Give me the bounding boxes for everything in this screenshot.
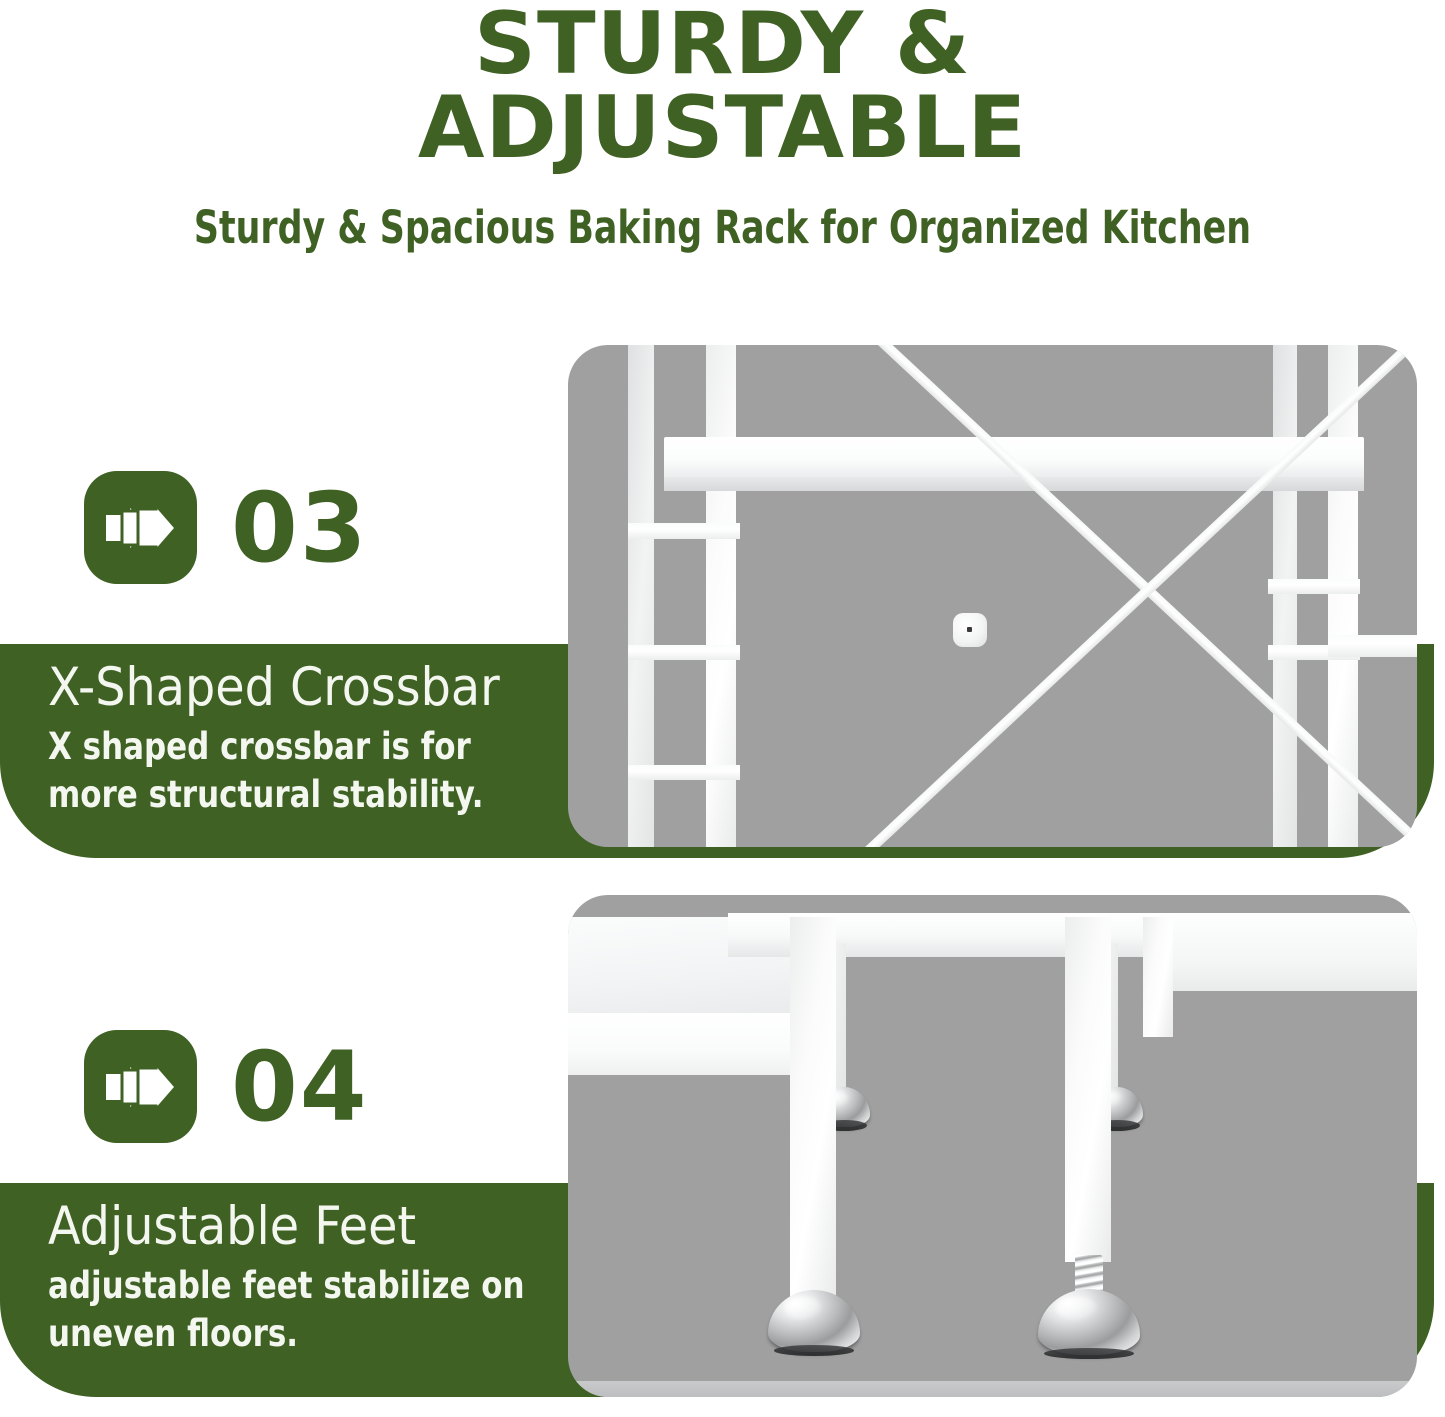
page-subtitle: Sturdy & Spacious Baking Rack for Organi… xyxy=(101,171,1344,254)
feature-title-03: X-Shaped Crossbar xyxy=(48,658,568,717)
adjustable-foot-front-right xyxy=(1038,1255,1140,1365)
feature-description-03: X shaped crossbar is for more structural… xyxy=(48,717,532,818)
step-row-03: 03 xyxy=(84,471,369,584)
feature-photo-03 xyxy=(568,345,1417,847)
feature-section-04: Adjustable Feet adjustable feet stabiliz… xyxy=(0,878,1445,1417)
header: STURDY & ADJUSTABLE Sturdy & Spacious Ba… xyxy=(0,0,1445,254)
step-row-04: 04 xyxy=(84,1030,369,1143)
floor-line xyxy=(568,1381,1417,1397)
rack-illustration-feet xyxy=(568,895,1417,1397)
feature-description-04: adjustable feet stabilize on uneven floo… xyxy=(48,1256,532,1357)
fast-forward-icon xyxy=(84,1030,197,1143)
feature-photo-04 xyxy=(568,895,1417,1397)
feature-section-03: X-Shaped Crossbar X shaped crossbar is f… xyxy=(0,330,1445,870)
feature-banner-text-04: Adjustable Feet adjustable feet stabiliz… xyxy=(0,1183,568,1357)
feature-title-04: Adjustable Feet xyxy=(48,1197,568,1256)
fast-forward-icon xyxy=(84,471,197,584)
rack-illustration-crossbar xyxy=(568,345,1417,847)
adjustable-foot-front-left xyxy=(768,1290,860,1352)
feature-banner-text-03: X-Shaped Crossbar X shaped crossbar is f… xyxy=(0,644,568,818)
feature-number-03: 03 xyxy=(231,480,369,576)
feature-number-04: 04 xyxy=(231,1039,369,1135)
page-title: STURDY & ADJUSTABLE xyxy=(0,0,1445,171)
